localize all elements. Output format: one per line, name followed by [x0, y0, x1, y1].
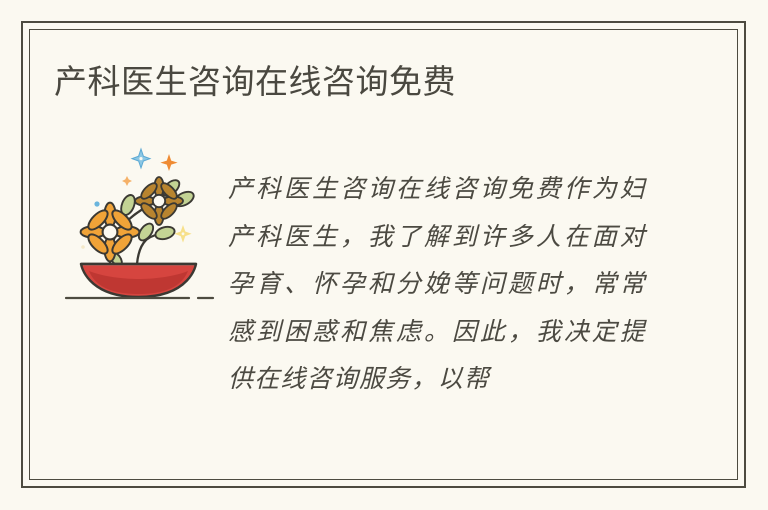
sparkle-blue-small-icon	[94, 201, 99, 206]
sparkle-pale-dot-icon	[81, 245, 85, 249]
page-title: 产科医生咨询在线咨询免费	[54, 60, 456, 104]
potted-flowers-graphic	[63, 143, 218, 308]
sparkle-orange-small-icon	[122, 176, 132, 186]
potted-flowers-illustration	[63, 143, 218, 308]
sparkle-blue-large-icon	[132, 149, 150, 168]
article-card-page: 产科医生咨询在线咨询免费	[0, 0, 768, 510]
sparkle-orange-star-icon	[160, 154, 177, 171]
sparkle-yellow-icon	[174, 225, 191, 243]
article-body-text: 产科医生咨询在线咨询免费作为妇产科医生，我了解到许多人在面对孕育、怀孕和分娩等问…	[228, 165, 646, 403]
flower-bowl	[81, 264, 196, 297]
